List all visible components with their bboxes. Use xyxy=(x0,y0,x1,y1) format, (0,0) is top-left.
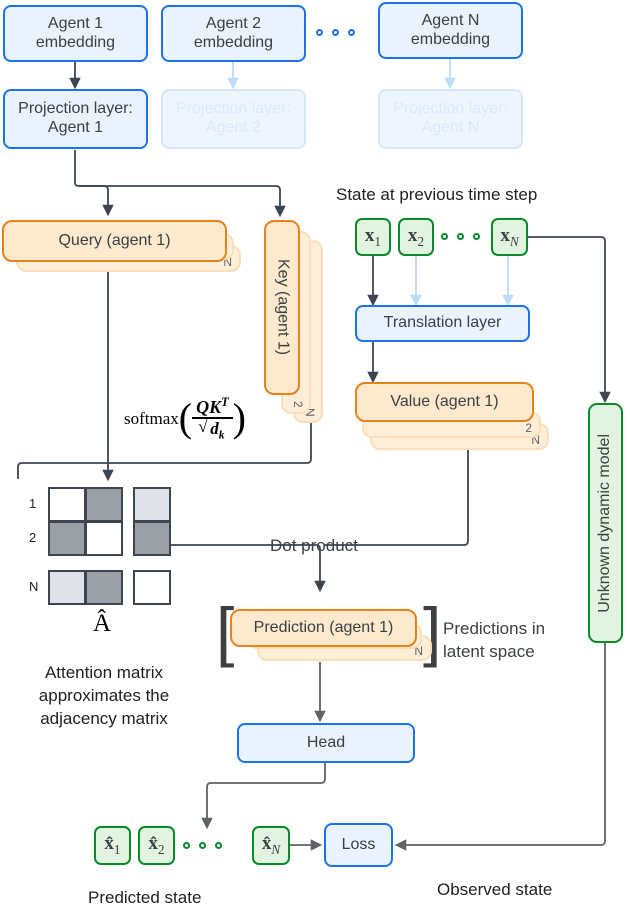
softmax-fn-label: softmax xyxy=(124,409,179,429)
projection-layer-agent-1-label: Projection layer: Agent 1 xyxy=(18,100,133,138)
value-agent-1-label: Value (agent 1) xyxy=(390,393,498,412)
matrix-cell-r3c1 xyxy=(48,570,86,605)
state-x1-box[interactable]: x1 xyxy=(355,218,391,256)
qk-fraction: QKT dk xyxy=(192,396,233,441)
paren-open: ( xyxy=(179,400,192,437)
predicted-x2-box[interactable]: x̂2 xyxy=(138,826,175,865)
predicted-x1-label: x̂1 xyxy=(104,833,120,857)
value-agent-1-box[interactable]: Value (agent 1) xyxy=(355,382,534,422)
matrix-row-label-2: 2 xyxy=(29,530,36,545)
key-agent-1-box[interactable]: Key (agent 1) xyxy=(264,220,300,395)
fraction-numerator: QKT xyxy=(192,396,233,416)
head-label: Head xyxy=(307,734,345,753)
agent-1-embedding-label: Agent 1 embedding xyxy=(36,15,115,53)
matrix-cell-r3c3 xyxy=(133,570,171,605)
projection-layer-agent-n-label: Projection layer: Agent N xyxy=(393,100,508,138)
agent-1-embedding-box[interactable]: Agent 1 embedding xyxy=(3,5,148,62)
attention-matrix-caption: Attention matrix approximates the adjace… xyxy=(9,662,199,731)
ellipsis-dot-icon xyxy=(441,233,448,240)
softmax-formula: softmax ( QKT dk ) xyxy=(124,396,246,441)
loss-label: Loss xyxy=(342,836,376,855)
ellipsis-dot-icon xyxy=(473,233,480,240)
ellipsis-dot-icon xyxy=(215,842,222,849)
matrix-cell-r2c3 xyxy=(133,521,171,556)
predictions-latent-space-caption: Predictions in latent space xyxy=(443,618,545,664)
prediction-agent-1-label: Prediction (agent 1) xyxy=(254,619,394,638)
key-agent-1-label: Key (agent 1) xyxy=(273,259,292,355)
predicted-xn-label: x̂N xyxy=(262,833,280,857)
query-agent-1-label: Query (agent 1) xyxy=(58,232,170,251)
value-stack-2-label: 2 xyxy=(525,421,532,435)
agent-n-embedding-box[interactable]: Agent N embedding xyxy=(378,2,523,59)
ellipsis-dot-icon xyxy=(348,29,355,36)
translation-layer-label: Translation layer xyxy=(384,314,502,333)
state-heading: State at previous time step xyxy=(336,185,537,205)
matrix-row-label-n: N xyxy=(29,579,38,594)
prediction-agent-1-box[interactable]: Prediction (agent 1) xyxy=(230,609,417,647)
projection-layer-agent-1-box[interactable]: Projection layer: Agent 1 xyxy=(3,89,148,149)
ellipsis-dot-icon xyxy=(183,842,190,849)
predicted-x2-label: x̂2 xyxy=(148,833,164,857)
diagram-canvas: Agent 1 embedding Agent 2 embedding Agen… xyxy=(0,0,630,912)
translation-layer-box[interactable]: Translation layer xyxy=(355,305,530,342)
predicted-xn-box[interactable]: x̂N xyxy=(252,826,290,865)
ellipsis-dot-icon xyxy=(316,29,323,36)
matrix-cell-r1c3 xyxy=(133,487,171,522)
agent-n-embedding-label: Agent N embedding xyxy=(411,12,490,50)
loss-box[interactable]: Loss xyxy=(324,823,393,867)
state-xn-label: xN xyxy=(500,225,518,249)
projection-layer-agent-n-box[interactable]: Projection layer: Agent N xyxy=(378,89,523,149)
matrix-cell-r2c2 xyxy=(85,521,123,556)
matrix-cell-r1c1 xyxy=(48,487,86,522)
agent-2-embedding-label: Agent 2 embedding xyxy=(194,15,273,53)
ellipsis-dot-icon xyxy=(332,29,339,36)
observed-state-caption: Observed state xyxy=(437,880,552,900)
attention-matrix[interactable]: 1 2 N xyxy=(48,487,171,605)
fraction-denominator: dk xyxy=(194,420,230,441)
query-agent-1-box[interactable]: Query (agent 1) xyxy=(2,220,227,262)
embedding-ellipsis xyxy=(316,29,355,36)
matrix-cell-r2c1 xyxy=(48,521,86,556)
agent-2-embedding-box[interactable]: Agent 2 embedding xyxy=(161,5,306,62)
projection-layer-agent-2-label: Projection layer: Agent 2 xyxy=(176,100,291,138)
unknown-dynamic-model-box[interactable]: Unknown dynamic model xyxy=(588,403,623,643)
predicted-ellipsis xyxy=(183,842,222,849)
state-x2-label: x2 xyxy=(408,225,424,249)
predicted-x1-box[interactable]: x̂1 xyxy=(94,826,131,865)
ellipsis-dot-icon xyxy=(199,842,206,849)
predicted-state-caption: Predicted state xyxy=(88,888,201,908)
attention-matrix-symbol: Â xyxy=(93,610,111,638)
key-stack-2-label: 2 xyxy=(291,401,305,408)
paren-close: ) xyxy=(233,400,246,437)
state-ellipsis xyxy=(441,233,480,240)
state-x2-box[interactable]: x2 xyxy=(398,218,434,256)
head-box[interactable]: Head xyxy=(237,723,415,763)
dot-product-label: Dot product xyxy=(270,536,358,556)
matrix-row-label-1: 1 xyxy=(29,496,36,511)
projection-layer-agent-2-box[interactable]: Projection layer: Agent 2 xyxy=(161,89,306,149)
ellipsis-dot-icon xyxy=(457,233,464,240)
matrix-cell-r1c2 xyxy=(85,487,123,522)
state-x1-label: x1 xyxy=(365,225,381,249)
state-xn-box[interactable]: xN xyxy=(491,218,528,256)
unknown-dynamic-model-label: Unknown dynamic model xyxy=(596,434,615,613)
matrix-cell-r3c2 xyxy=(85,570,123,605)
